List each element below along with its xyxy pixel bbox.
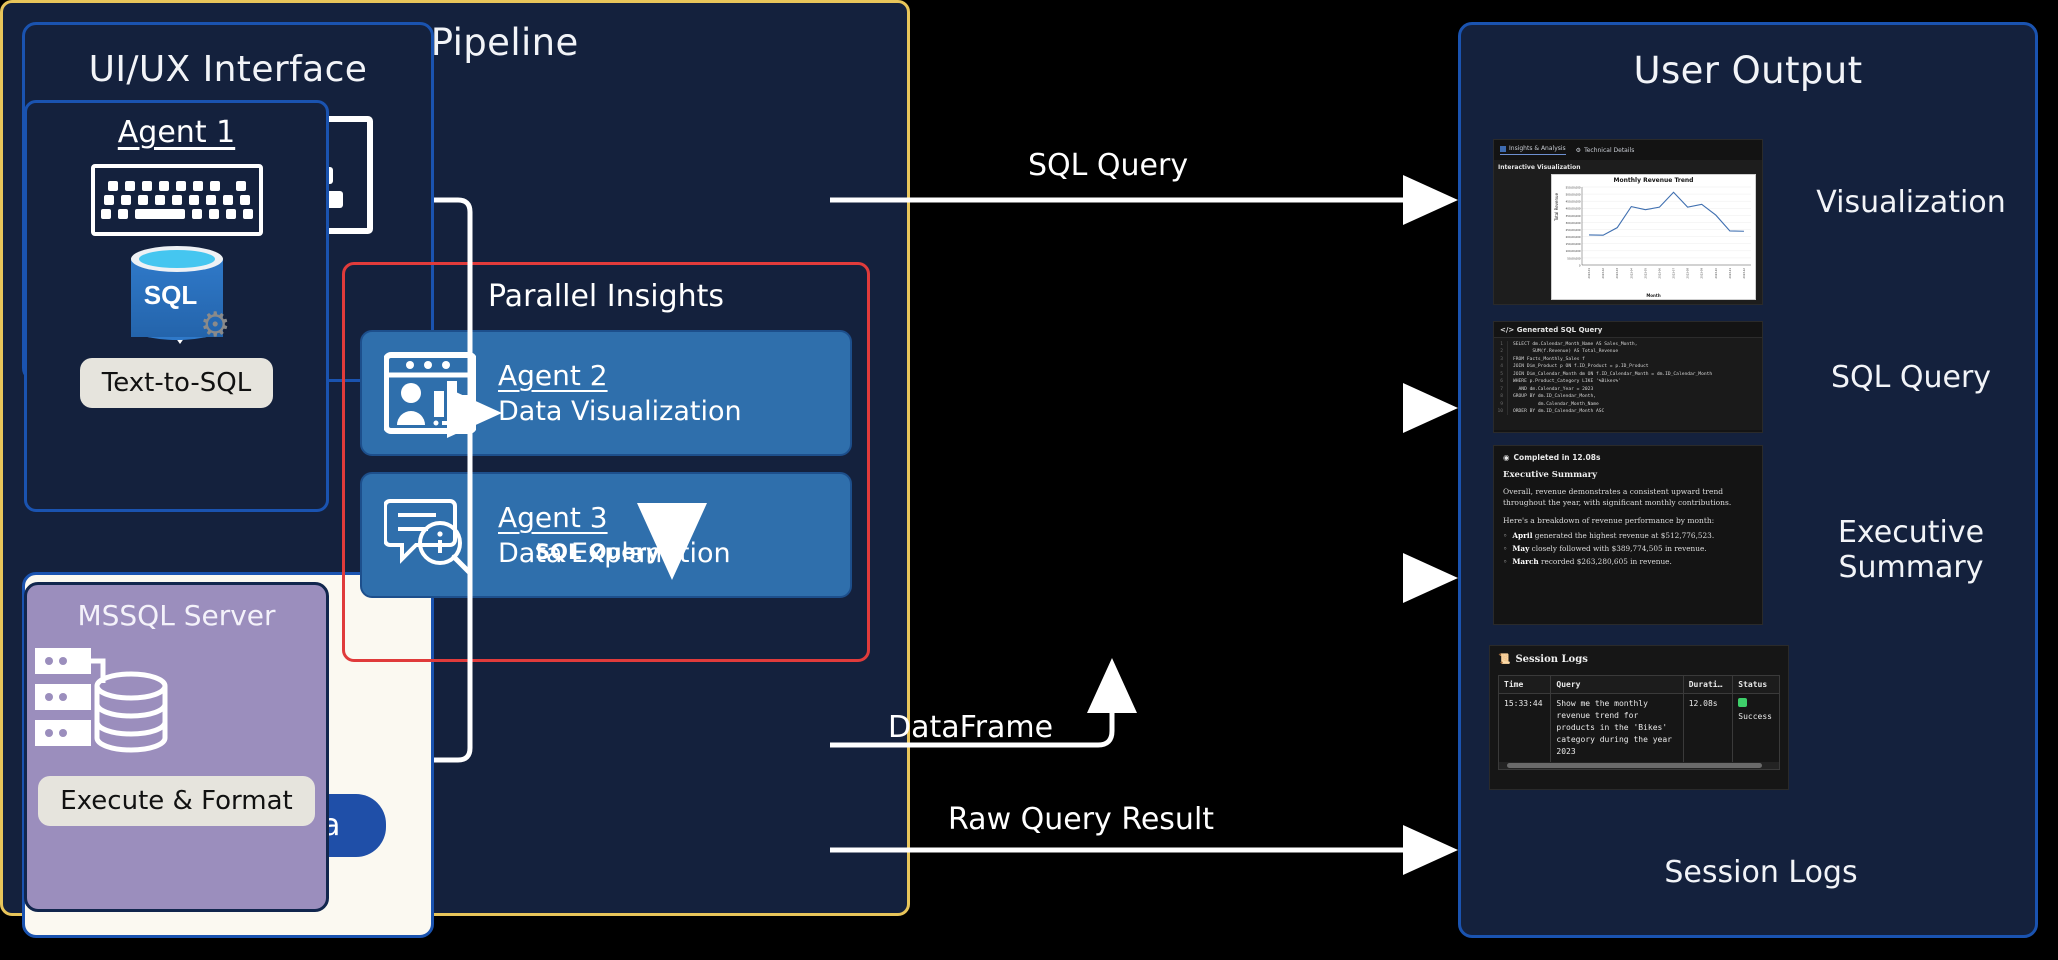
col-query: Query [1551,676,1683,694]
executive-summary-screenshot[interactable]: ◉ Completed in 12.08s Executive Summary … [1493,445,1763,625]
sql-line-number: 3 [1494,356,1508,363]
edge-label-dataframe: DataFrame [888,710,1053,745]
label-sql-query: SQL Query [1791,360,2031,395]
sql-query-screenshot[interactable]: </> Generated SQL Query 1SELECT dm.Calen… [1493,321,1763,433]
cell-status: Success [1733,694,1779,762]
sql-line: 3FROM Facts_Monthly_Sales f [1494,356,1762,363]
svg-text:2023-01: 2023-01 [1587,268,1591,279]
svg-text:0: 0 [1579,263,1581,267]
mssql-title: MSSQL Server [27,599,326,632]
svg-text:2023-09: 2023-09 [1700,268,1704,279]
label-executive-summary: Executive Summary [1791,515,2031,586]
bullet-text: March recorded $263,280,605 in revenue. [1512,557,1672,566]
bullet-icon: ◦ [1503,544,1507,553]
agent2-role: Data Visualization [498,396,742,427]
agent1-box: Agent 1 [24,100,329,512]
sql-line-code: SELECT dm.Calendar_Month_Name AS Sales_M… [1508,341,1637,348]
sql-line-code: WHERE p.Product_Category LIKE '%Bikes%' [1508,378,1621,385]
dashboard-chart-icon [384,351,476,435]
svg-text:2023-04: 2023-04 [1629,268,1633,279]
cell-query: Show me the monthly revenue trend for pr… [1551,694,1683,762]
core-pipeline-panel: Core Pipeline Agent 1 [0,0,910,916]
sql-line-number: 8 [1494,393,1508,400]
edge-label-sql-query-top: SQL Query [1028,148,1188,183]
bullet-text: May closely followed with $389,774,505 i… [1512,544,1706,553]
svg-text:2023-11: 2023-11 [1728,268,1732,279]
diagram-canvas: UI/UX Interface Text Input Pre-Loaded [0,0,2058,960]
svg-text:550,00,000: 550,00,000 [1566,185,1581,189]
sql-line-code: ORDER BY dm.ID_Calendar_Month ASC [1508,408,1604,415]
svg-text:2023-08: 2023-08 [1686,268,1690,279]
col-duration: Durati… [1684,676,1734,694]
sql-line-number: 5 [1494,371,1508,378]
viz-tabbar: Insights & Analysis ⚙ Technical Details [1494,140,1762,160]
svg-text:100,00,000: 100,00,000 [1566,249,1581,253]
sql-line: 9 dm.Calendar_Month_Name [1494,401,1762,408]
session-logs-screenshot[interactable]: 📜 Session Logs Time Query Durati… Status… [1489,645,1789,790]
svg-text:2023-05: 2023-05 [1643,268,1647,279]
label-visualization: Visualization [1791,185,2031,220]
agent3-name: Agent 3 [498,501,731,534]
breakdown-intro: Here's a breakdown of revenue performanc… [1503,516,1753,527]
completed-status: ◉ Completed in 12.08s [1503,453,1753,462]
text-to-sql-button[interactable]: Text-to-SQL [80,358,273,408]
sql-line: 5JOIN Dim_Calendar_Month dm ON f.ID_Cale… [1494,371,1762,378]
keyboard-icon [91,164,263,236]
sql-line-number: 10 [1494,408,1508,415]
bullet-icon: ◦ [1503,557,1507,566]
parallel-insights-box: Parallel Insights Agent 2 Data Visualiza… [342,262,870,662]
gear-icon: ⚙ [200,308,230,342]
col-status: Status [1733,676,1779,694]
svg-text:2023-03: 2023-03 [1615,268,1619,279]
svg-text:300,00,000: 300,00,000 [1566,221,1581,225]
session-logs-table: Time Query Durati… Status 15:33:44 Show … [1498,675,1780,770]
tab-insights-analysis[interactable]: Insights & Analysis [1500,145,1566,155]
table-header-row: Time Query Durati… Status [1499,676,1779,694]
interactive-visualization-label: Interactive Visualization [1498,164,1758,171]
breakdown-bullet: ◦May closely followed with $389,774,505 … [1503,544,1753,553]
svg-text:350,00,000: 350,00,000 [1566,214,1581,218]
sql-line-code: SUM(f.Revenue) AS Total_Revenue [1508,348,1618,355]
sql-line-code: GROUP BY dm.ID_Calendar_Month, [1508,393,1596,400]
bullet-icon: ◦ [1503,531,1507,540]
code-icon: </> [1500,326,1517,334]
sql-line: 1SELECT dm.Calendar_Month_Name AS Sales_… [1494,341,1762,348]
sql-line-code: FROM Facts_Monthly_Sales f [1508,356,1585,363]
user-output-title: User Output [1461,49,2035,92]
agent2-name: Agent 2 [498,359,742,392]
uiux-panel-title: UI/UX Interface [25,49,431,90]
svg-text:250,00,000: 250,00,000 [1566,228,1581,232]
breakdown-bullet: ◦April generated the highest revenue at … [1503,531,1753,540]
svg-text:150,00,000: 150,00,000 [1566,242,1581,246]
mssql-server-box: MSSQL Server Execute & Format [24,582,329,912]
sql-line-number: 4 [1494,363,1508,370]
svg-text:400,00,000: 400,00,000 [1566,207,1581,211]
agent3-card[interactable]: Agent 3 Data Explanation [360,472,852,598]
revenue-line-chart: Monthly Revenue Trend Total Revenue 050,… [1551,174,1756,300]
viz-body: Interactive Visualization Monthly Revenu… [1494,160,1762,305]
svg-text:2023-10: 2023-10 [1714,268,1718,279]
col-time: Time [1499,676,1551,694]
edge-label-sql-query-mid: SQL Query [535,540,660,564]
session-logs-header: 📜 Session Logs [1498,654,1780,665]
scroll-icon: 📜 [1498,654,1510,665]
sql-line: 8GROUP BY dm.ID_Calendar_Month, [1494,393,1762,400]
sql-database-gear-icon: SQL ⚙ [125,246,229,350]
svg-text:50,00,000: 50,00,000 [1567,256,1581,260]
chart-plot-area: 050,00,000100,00,000150,00,000200,00,000… [1552,183,1757,295]
speech-bubble-magnifier-info-icon [384,493,476,577]
svg-text:2023-12: 2023-12 [1742,268,1746,279]
success-check-icon [1738,698,1747,707]
sql-line-number: 2 [1494,348,1508,355]
generated-sql-header: </> Generated SQL Query [1494,322,1762,338]
breakdown-bullet: ◦March recorded $263,280,605 in revenue. [1503,557,1753,566]
sql-line: 7 AND dm.Calendar_Year = 2023 [1494,386,1762,393]
agent2-card[interactable]: Agent 2 Data Visualization [360,330,852,456]
table-horizontal-scrollbar[interactable] [1499,762,1779,769]
svg-text:500,00,000: 500,00,000 [1566,192,1581,196]
table-row: 15:33:44 Show me the monthly revenue tre… [1499,694,1779,762]
tab-technical-details[interactable]: ⚙ Technical Details [1576,147,1635,154]
parallel-insights-title: Parallel Insights [345,279,867,314]
label-session-logs: Session Logs [1591,855,1931,890]
edge-label-raw-query-result: Raw Query Result [948,802,1214,837]
sql-line-number: 7 [1494,386,1508,393]
breakdown-bullet-list: ◦April generated the highest revenue at … [1503,531,1753,566]
executive-summary-paragraph: Overall, revenue demonstrates a consiste… [1503,487,1753,509]
sql-line: 10ORDER BY dm.ID_Calendar_Month ASC [1494,408,1762,415]
sql-line-number: 6 [1494,378,1508,385]
svg-text:2023-07: 2023-07 [1672,268,1676,279]
svg-text:2023-06: 2023-06 [1657,268,1661,279]
chart-icon [1500,146,1506,152]
bullet-text: April generated the highest revenue at $… [1512,531,1714,540]
sql-line-number: 1 [1494,341,1508,348]
sql-line: 4JOIN Dim_Product p ON f.ID_Product = p.… [1494,363,1762,370]
cell-time: 15:33:44 [1499,694,1551,762]
execute-format-button[interactable]: Execute & Format [38,776,314,826]
chart-xlabel: Month [1552,293,1755,298]
svg-text:200,00,000: 200,00,000 [1566,235,1581,239]
svg-text:2023-02: 2023-02 [1601,268,1605,279]
sql-line-code: JOIN Dim_Product p ON f.ID_Product = p.I… [1508,363,1649,370]
visualization-screenshot[interactable]: Insights & Analysis ⚙ Technical Details … [1493,139,1763,305]
user-output-panel: User Output Insights & Analysis ⚙ Techni… [1458,22,2038,938]
clock-icon: ◉ [1503,453,1510,462]
sql-line-code: dm.Calendar_Month_Name [1508,401,1599,408]
sql-code-block: 1SELECT dm.Calendar_Month_Name AS Sales_… [1494,338,1762,430]
sql-line: 6WHERE p.Product_Category LIKE '%Bikes%' [1494,378,1762,385]
sql-line-code: AND dm.Calendar_Year = 2023 [1508,386,1593,393]
executive-summary-heading: Executive Summary [1503,470,1753,480]
sql-line-number: 9 [1494,401,1508,408]
gear-icon: ⚙ [1576,147,1581,154]
sql-line-code: JOIN Dim_Calendar_Month dm ON f.ID_Calen… [1508,371,1712,378]
sql-line: 2 SUM(f.Revenue) AS Total_Revenue [1494,348,1762,355]
server-database-icon [27,642,177,764]
agent1-title: Agent 1 [27,115,326,150]
cell-duration: 12.08s [1684,694,1734,762]
svg-text:450,00,000: 450,00,000 [1566,200,1581,204]
